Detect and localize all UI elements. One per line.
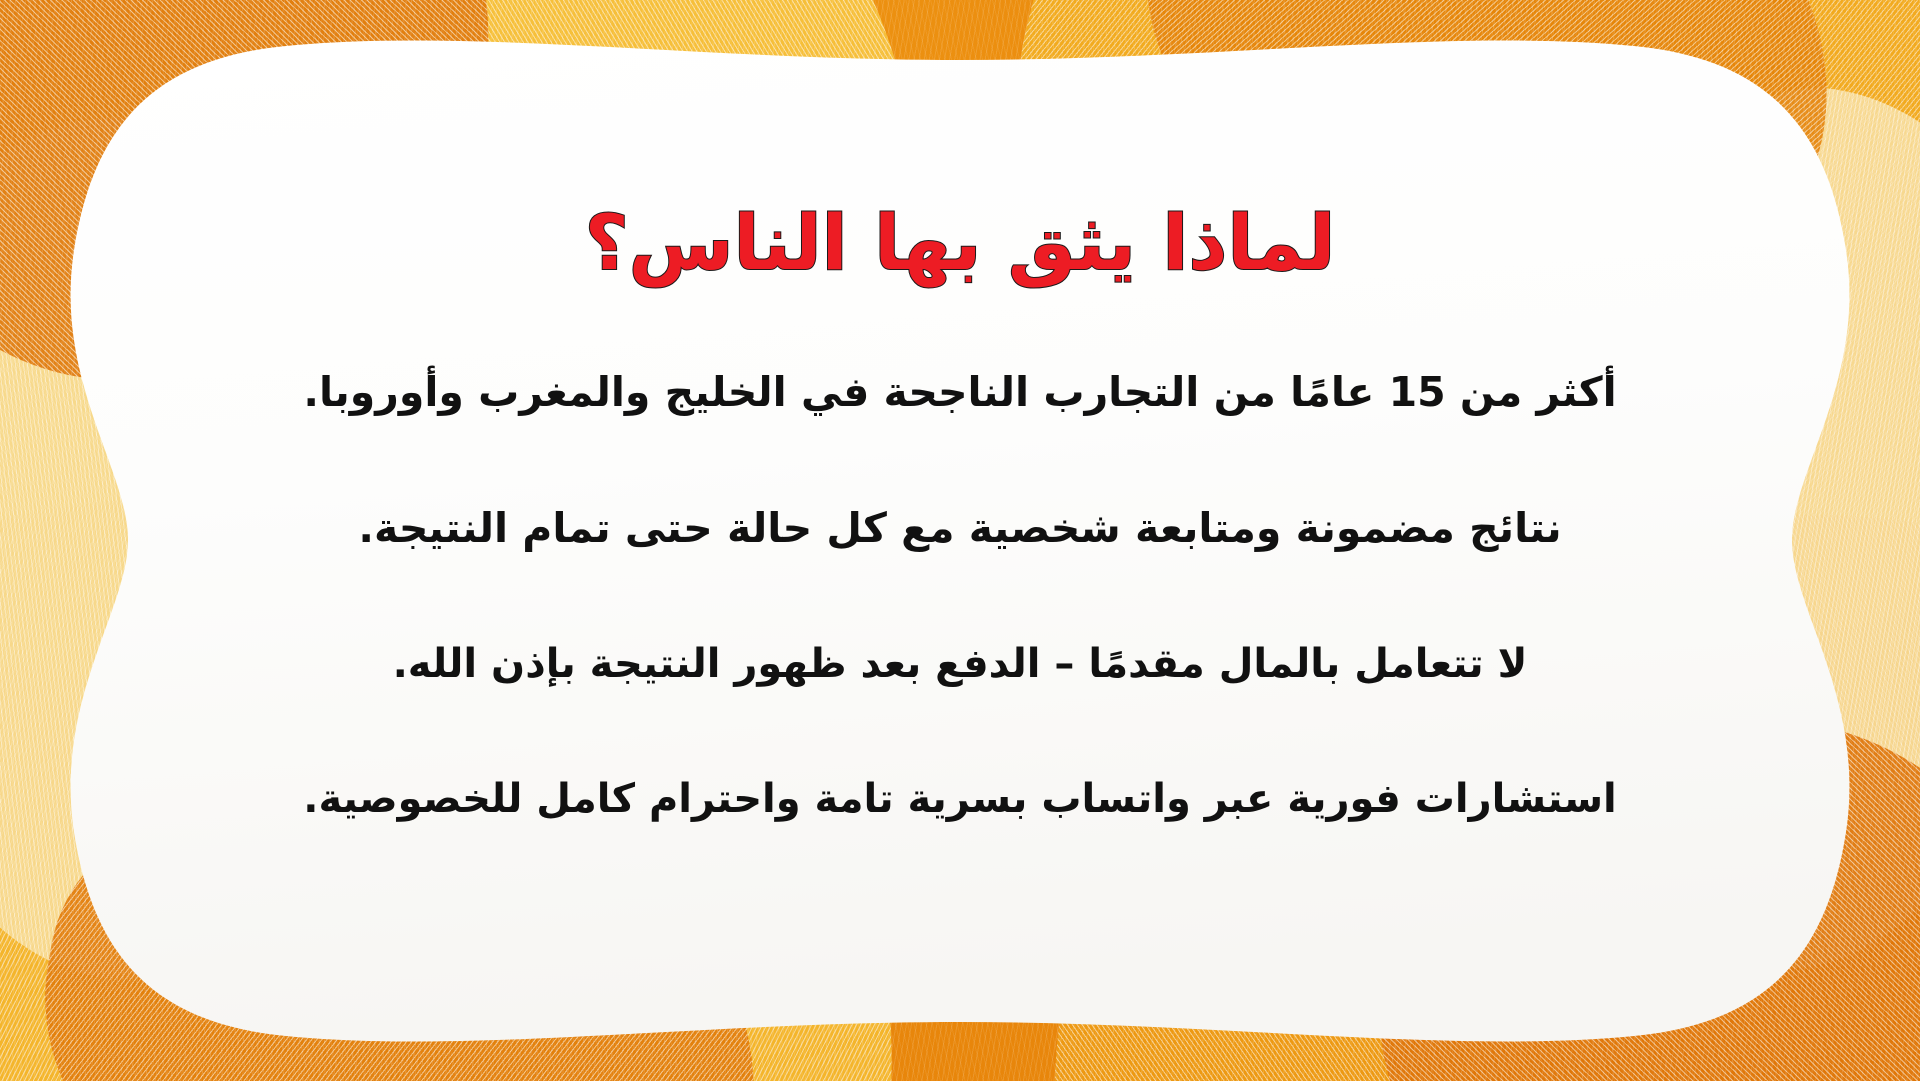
bullet-item-2: نتائج مضمونة ومتابعة شخصية مع كل حالة حت… [210, 504, 1710, 552]
bullet-list: أكثر من 15 عامًا من التجارب الناجحة في ا… [210, 368, 1710, 823]
presentation-slide: لماذا يثق بها الناس؟ أكثر من 15 عامًا من… [0, 0, 1920, 1081]
bullet-item-1: أكثر من 15 عامًا من التجارب الناجحة في ا… [210, 368, 1710, 416]
bullet-item-4: استشارات فورية عبر واتساب بسرية تامة واح… [210, 776, 1710, 823]
bullet-item-3: لا تتعامل بالمال مقدمًا – الدفع بعد ظهور… [210, 641, 1710, 688]
slide-title: لماذا يثق بها الناس؟ [0, 203, 1920, 283]
slide-content: لماذا يثق بها الناس؟ أكثر من 15 عامًا من… [0, 0, 1920, 1081]
